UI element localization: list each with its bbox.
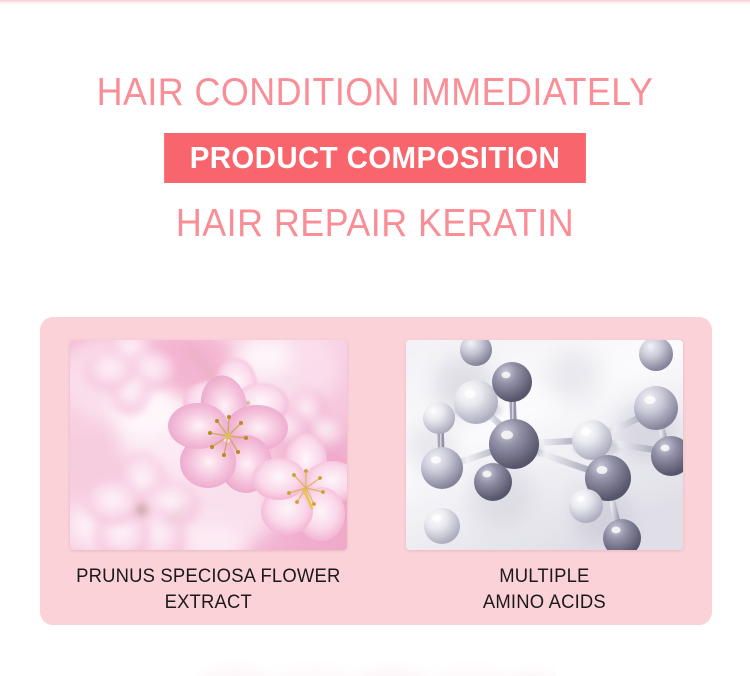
product-composition-section: HAIR CONDITION IMMEDIATELY PRODUCT COMPO… [0,0,750,676]
bottom-bleed-image [196,660,556,676]
headline-bottom: HAIR REPAIR KERATIN [30,203,720,244]
caption-line-2: AMINO ACIDS [483,590,606,616]
caption-line-2: EXTRACT [76,590,340,616]
caption-line-1: PRUNUS SPECIOSA FLOWER [76,564,340,590]
headline-top: HAIR CONDITION IMMEDIATELY [30,72,720,113]
heading-block: HAIR CONDITION IMMEDIATELY PRODUCT COMPO… [0,72,750,245]
molecule-structure-photo [406,340,683,550]
cherry-blossom-photo [70,340,347,550]
caption-line-1: MULTIPLE [483,564,606,590]
product-composition-banner: PRODUCT COMPOSITION [164,133,586,183]
ingredient-card: PRUNUS SPECIOSA FLOWER EXTRACT [40,317,712,625]
ingredient-caption: MULTIPLE AMINO ACIDS [483,564,606,615]
ingredient-caption: PRUNUS SPECIOSA FLOWER EXTRACT [76,564,340,615]
ingredient-item: PRUNUS SPECIOSA FLOWER EXTRACT [40,317,376,625]
top-edge-seam [0,0,750,5]
ingredient-item: MULTIPLE AMINO ACIDS [376,317,712,625]
ingredient-grid: PRUNUS SPECIOSA FLOWER EXTRACT [40,317,712,625]
banner-wrap: PRODUCT COMPOSITION [0,133,750,183]
